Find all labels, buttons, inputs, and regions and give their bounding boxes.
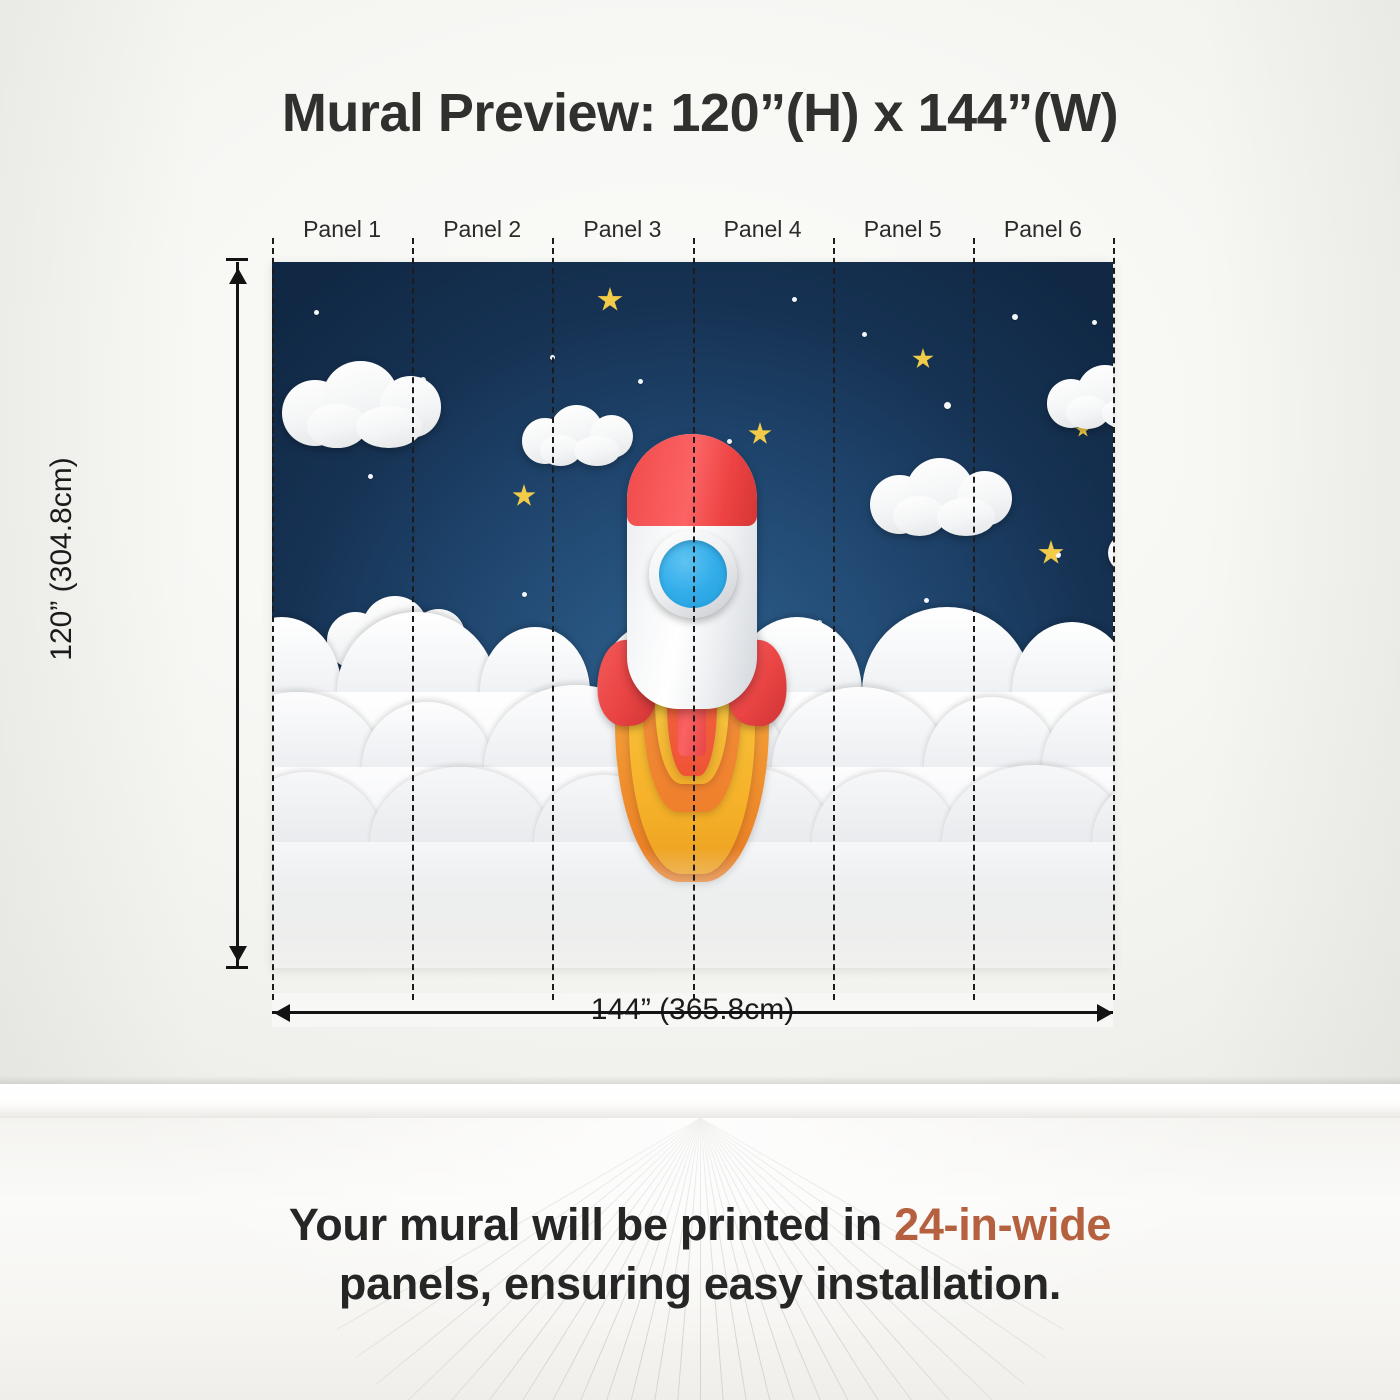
sky-dot [1092, 320, 1097, 325]
caption-line-2: panels, ensuring easy installation. [0, 1255, 1400, 1314]
cloud-shape [1047, 362, 1113, 432]
star-icon [512, 484, 536, 508]
height-dimension-line [236, 262, 239, 968]
sky-dot [1012, 314, 1018, 320]
panel-divider [412, 238, 414, 1000]
panel-divider [552, 238, 554, 1000]
width-dimension-line [272, 1011, 1113, 1014]
panel-divider [272, 238, 274, 1000]
baseboard [0, 1084, 1400, 1120]
width-arrow-left [274, 1004, 290, 1022]
caption-highlight: 24-in-wide [894, 1199, 1111, 1250]
caption-line-1: Your mural will be printed in 24-in-wide [0, 1196, 1400, 1255]
caption: Your mural will be printed in 24-in-wide… [0, 1196, 1400, 1313]
sky-dot [638, 379, 643, 384]
sky-dot [522, 592, 527, 597]
page-title: Mural Preview: 120”(H) x 144”(W) [0, 82, 1400, 144]
height-arrow-down [229, 946, 247, 962]
sky-dot [862, 332, 867, 337]
panel-divider [833, 238, 835, 1000]
star-icon [597, 287, 623, 313]
height-tick-top [226, 258, 248, 261]
cloud-shape [282, 357, 452, 452]
panel-label-6: Panel 6 [973, 216, 1113, 243]
sky-dot [314, 310, 319, 315]
panel-divider [1113, 238, 1115, 1000]
star-icon [912, 348, 934, 370]
height-arrow-up [229, 268, 247, 284]
panel-label-4: Panel 4 [693, 216, 833, 243]
panel-label-5: Panel 5 [833, 216, 973, 243]
cloud-shape [870, 454, 1022, 540]
panel-label-2: Panel 2 [412, 216, 552, 243]
sky-dot [368, 474, 373, 479]
panel-label-1: Panel 1 [272, 216, 412, 243]
panel-label-3: Panel 3 [552, 216, 692, 243]
sky-dot [792, 297, 797, 302]
sky-dot [944, 402, 951, 409]
panel-divider [693, 238, 695, 1000]
caption-text-before: Your mural will be printed in [289, 1199, 894, 1250]
height-dimension-label: 120” (304.8cm) [45, 409, 79, 709]
sky-dot [924, 598, 929, 603]
height-tick-bottom [226, 966, 248, 969]
width-arrow-right [1097, 1004, 1113, 1022]
panel-divider [973, 238, 975, 1000]
